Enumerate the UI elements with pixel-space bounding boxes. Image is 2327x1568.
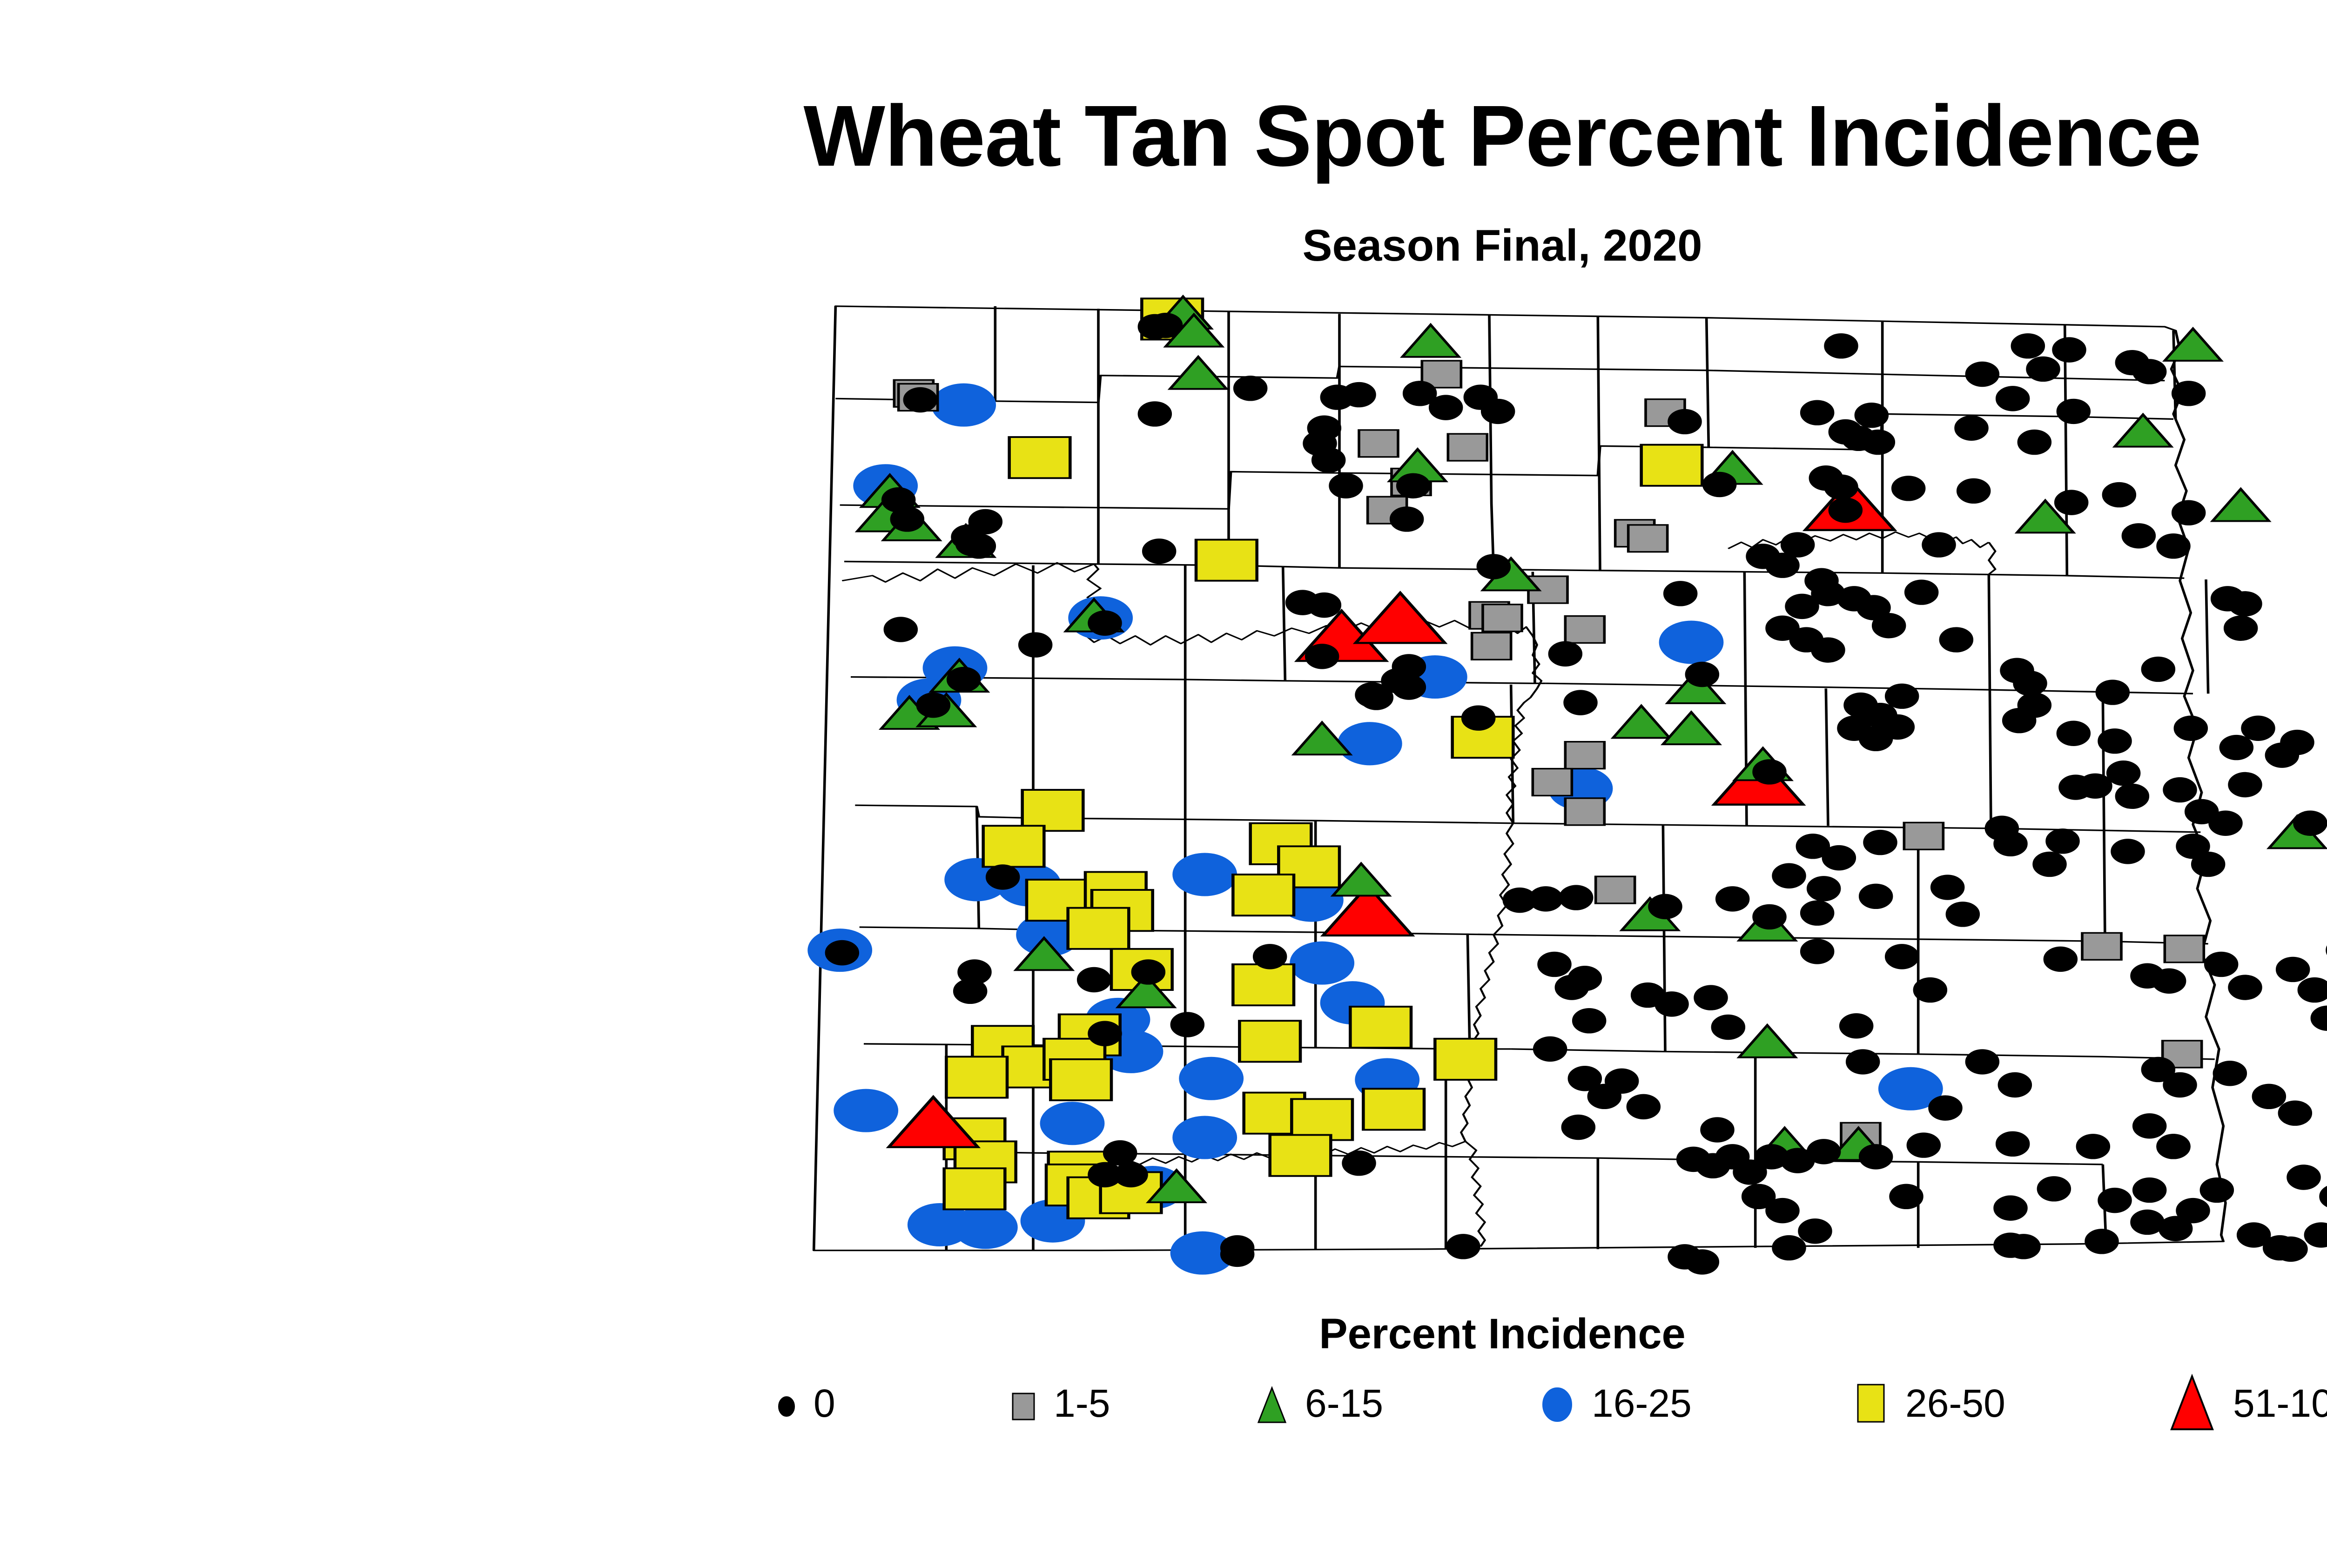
incidence-marker bbox=[1966, 362, 1998, 386]
incidence-marker bbox=[2122, 524, 2155, 548]
incidence-marker bbox=[1538, 952, 1571, 976]
legend-label-4: 26-50 bbox=[1905, 1384, 2005, 1423]
incidence-marker bbox=[2085, 1229, 2118, 1253]
incidence-marker bbox=[2305, 1223, 2327, 1247]
incidence-marker bbox=[1312, 448, 1345, 472]
incidence-marker bbox=[1402, 325, 1459, 357]
incidence-marker bbox=[1565, 616, 1604, 643]
legend-swatch-extreme-icon bbox=[2164, 1371, 2220, 1436]
incidence-marker bbox=[2287, 1165, 2320, 1189]
incidence-marker bbox=[1808, 876, 1840, 901]
incidence-marker bbox=[2157, 1134, 2190, 1158]
incidence-marker bbox=[2018, 430, 2051, 454]
incidence-marker bbox=[1860, 884, 1892, 908]
incidence-marker bbox=[1254, 944, 1286, 969]
incidence-marker bbox=[1627, 1095, 1660, 1119]
incidence-marker bbox=[2220, 735, 2253, 760]
incidence-marker bbox=[1483, 605, 1522, 632]
incidence-marker bbox=[2082, 933, 2121, 960]
incidence-marker bbox=[1009, 437, 1070, 478]
incidence-marker bbox=[1286, 590, 1319, 614]
incidence-marker bbox=[1905, 580, 1938, 604]
incidence-marker bbox=[1041, 1102, 1103, 1144]
north-dakota-incidence-map[interactable] bbox=[773, 279, 2327, 1280]
incidence-marker bbox=[1173, 1117, 1236, 1159]
incidence-marker bbox=[2213, 1061, 2246, 1085]
incidence-marker bbox=[1860, 1144, 1892, 1169]
incidence-marker bbox=[1923, 532, 1955, 557]
incidence-marker bbox=[1089, 611, 1121, 635]
incidence-marker bbox=[1907, 1133, 1940, 1157]
incidence-marker bbox=[2238, 1223, 2270, 1247]
incidence-marker bbox=[1562, 1115, 1594, 1139]
incidence-marker bbox=[1914, 978, 1946, 1002]
incidence-marker bbox=[2055, 490, 2088, 514]
incidence-marker bbox=[1019, 633, 1052, 657]
incidence-marker bbox=[2209, 811, 2242, 835]
incidence-marker bbox=[1606, 1069, 1638, 1093]
legend-label-0: 0 bbox=[814, 1384, 835, 1423]
incidence-marker bbox=[1931, 875, 1964, 899]
incidence-marker bbox=[1482, 399, 1514, 424]
incidence-marker bbox=[1170, 357, 1226, 389]
incidence-marker bbox=[1664, 581, 1697, 606]
incidence-marker bbox=[2279, 1101, 2311, 1125]
incidence-marker bbox=[1812, 638, 1844, 662]
legend-swatch-low-icon bbox=[1005, 1378, 1041, 1429]
incidence-marker bbox=[1808, 1139, 1840, 1164]
incidence-marker bbox=[2164, 1073, 2196, 1097]
incidence-marker bbox=[1078, 968, 1110, 992]
incidence-marker bbox=[1565, 798, 1604, 825]
page-title: Wheat Tan Spot Percent Incidence bbox=[0, 93, 2327, 180]
incidence-marker bbox=[1068, 908, 1129, 949]
incidence-marker bbox=[2192, 852, 2225, 876]
incidence-marker bbox=[1994, 832, 2027, 856]
incidence-marker bbox=[917, 693, 949, 717]
incidence-marker bbox=[954, 1206, 1017, 1249]
incidence-marker bbox=[1904, 822, 1943, 849]
incidence-marker bbox=[1291, 942, 1353, 984]
incidence-marker bbox=[1716, 887, 1749, 911]
incidence-marker bbox=[1363, 1089, 1424, 1130]
incidence-marker bbox=[2133, 359, 2166, 384]
incidence-marker bbox=[2277, 957, 2309, 982]
map-svg bbox=[773, 279, 2327, 1280]
incidence-marker bbox=[1477, 554, 1510, 579]
incidence-marker bbox=[1649, 895, 1681, 919]
incidence-marker bbox=[1966, 1050, 1998, 1074]
legend-swatch-zero-icon bbox=[773, 1378, 800, 1429]
incidence-marker bbox=[2172, 381, 2205, 405]
legend-label-1: 1-5 bbox=[1054, 1384, 1110, 1423]
incidence-marker bbox=[2205, 952, 2238, 976]
incidence-marker bbox=[1613, 706, 1669, 738]
incidence-marker bbox=[1529, 887, 1562, 911]
page-subtitle: Season Final, 2020 bbox=[0, 223, 2327, 268]
incidence-marker bbox=[1150, 313, 1182, 337]
incidence-marker bbox=[2242, 716, 2274, 740]
incidence-marker bbox=[1686, 662, 1718, 686]
incidence-marker bbox=[1823, 846, 1855, 870]
incidence-marker bbox=[1668, 410, 1701, 434]
incidence-marker bbox=[1946, 902, 1979, 926]
incidence-marker bbox=[2165, 935, 2204, 962]
incidence-marker bbox=[1829, 498, 1862, 522]
incidence-marker bbox=[1391, 507, 1423, 531]
incidence-marker bbox=[1143, 539, 1176, 563]
incidence-marker bbox=[1955, 416, 1988, 440]
incidence-marker bbox=[987, 865, 1019, 889]
incidence-marker bbox=[2133, 1178, 2166, 1202]
incidence-marker bbox=[2116, 784, 2148, 808]
map-figure-root: Wheat Tan Spot Percent Incidence Season … bbox=[0, 0, 2327, 1568]
incidence-marker bbox=[1782, 532, 1814, 557]
incidence-marker bbox=[1994, 1196, 2027, 1220]
incidence-marker bbox=[1435, 1039, 1496, 1080]
incidence-marker bbox=[2298, 978, 2327, 1002]
incidence-marker bbox=[1173, 853, 1236, 895]
incidence-marker bbox=[1343, 383, 1375, 407]
incidence-marker bbox=[1560, 885, 1593, 909]
incidence-marker bbox=[2044, 947, 2077, 971]
incidence-marker bbox=[1701, 1117, 1734, 1142]
incidence-marker bbox=[1138, 402, 1171, 426]
incidence-marker bbox=[2153, 969, 2186, 993]
incidence-marker bbox=[2320, 1184, 2327, 1209]
incidence-marker bbox=[1753, 905, 1786, 929]
incidence-marker bbox=[932, 384, 995, 426]
incidence-marker bbox=[1855, 403, 1888, 427]
incidence-marker bbox=[2172, 500, 2205, 525]
incidence-marker bbox=[1773, 864, 1805, 888]
incidence-marker bbox=[2003, 708, 2036, 733]
legend-item-5[interactable]: 51-100 bbox=[2164, 1364, 2327, 1443]
incidence-marker bbox=[1089, 1022, 1121, 1046]
legend-label-3: 16-25 bbox=[1592, 1384, 1692, 1423]
incidence-marker bbox=[2096, 680, 2129, 704]
incidence-marker bbox=[2133, 1114, 2166, 1138]
incidence-marker bbox=[1663, 712, 1719, 744]
incidence-marker bbox=[1338, 722, 1401, 765]
legend: 0 1-5 6-15 16-25 26-50 51-100 bbox=[773, 1364, 2327, 1443]
incidence-marker bbox=[1825, 475, 1857, 499]
incidence-marker bbox=[1997, 1132, 2029, 1156]
incidence-marker bbox=[2157, 534, 2190, 558]
incidence-marker bbox=[1343, 1151, 1375, 1175]
incidence-marker bbox=[1890, 1184, 1923, 1209]
incidence-marker-layer bbox=[808, 296, 2327, 1274]
incidence-marker bbox=[2229, 975, 2261, 999]
incidence-marker bbox=[1115, 1163, 1147, 1187]
legend-label-5: 51-100 bbox=[2233, 1384, 2327, 1423]
incidence-marker bbox=[1801, 901, 1834, 925]
incidence-marker bbox=[1565, 742, 1604, 769]
incidence-marker bbox=[1180, 1057, 1243, 1100]
incidence-marker bbox=[2014, 671, 2046, 695]
legend-item-0[interactable]: 0 bbox=[773, 1364, 835, 1443]
incidence-marker bbox=[1801, 400, 1834, 424]
incidence-marker bbox=[1239, 1021, 1300, 1062]
incidence-marker bbox=[946, 1057, 1007, 1097]
incidence-marker bbox=[1564, 690, 1597, 714]
incidence-marker bbox=[1825, 334, 1857, 358]
incidence-marker bbox=[2027, 357, 2059, 381]
incidence-marker bbox=[1022, 790, 1083, 831]
incidence-marker bbox=[1291, 1099, 1352, 1140]
incidence-marker bbox=[1050, 1059, 1111, 1100]
incidence-marker bbox=[1430, 395, 1462, 419]
incidence-marker bbox=[944, 1168, 1005, 1209]
incidence-marker bbox=[2164, 778, 2196, 802]
incidence-marker bbox=[1847, 1050, 1879, 1074]
incidence-marker bbox=[1864, 830, 1897, 855]
legend-title: Percent Incidence bbox=[0, 1312, 2327, 1355]
legend-item-1[interactable]: 1-5 bbox=[1005, 1364, 1110, 1443]
incidence-marker bbox=[2077, 1134, 2109, 1158]
incidence-marker bbox=[1940, 627, 1972, 652]
incidence-marker bbox=[954, 979, 987, 1003]
incidence-marker bbox=[1703, 472, 1736, 497]
incidence-marker bbox=[1773, 1236, 1805, 1260]
legend-swatch-moderate-icon bbox=[1252, 1378, 1292, 1429]
incidence-marker bbox=[1655, 992, 1688, 1016]
incidence-marker bbox=[1171, 1012, 1204, 1036]
incidence-marker bbox=[2229, 773, 2261, 797]
incidence-marker bbox=[2200, 1178, 2233, 1202]
incidence-marker bbox=[1997, 386, 2029, 411]
incidence-marker bbox=[1892, 476, 1925, 500]
incidence-marker bbox=[983, 826, 1044, 867]
incidence-marker bbox=[2011, 334, 2044, 358]
incidence-marker bbox=[1739, 1025, 1796, 1057]
legend-swatch-high-icon bbox=[1536, 1378, 1579, 1429]
incidence-marker bbox=[962, 534, 995, 558]
incidence-marker bbox=[2038, 1177, 2070, 1201]
incidence-marker bbox=[1873, 613, 1905, 638]
incidence-marker bbox=[834, 1090, 897, 1132]
incidence-marker bbox=[1533, 769, 1572, 796]
incidence-marker bbox=[1929, 1096, 1962, 1120]
incidence-marker bbox=[1350, 1007, 1411, 1048]
incidence-marker bbox=[1786, 594, 1818, 619]
incidence-marker bbox=[2033, 852, 2066, 876]
legend-label-2: 6-15 bbox=[1305, 1384, 1383, 1423]
incidence-marker bbox=[2057, 399, 2090, 424]
incidence-marker bbox=[1234, 376, 1267, 400]
incidence-marker bbox=[1695, 985, 1727, 1009]
incidence-marker bbox=[1333, 864, 1389, 896]
incidence-marker bbox=[2079, 774, 2112, 798]
incidence-marker bbox=[1448, 434, 1487, 461]
incidence-marker bbox=[1196, 540, 1257, 581]
incidence-marker bbox=[891, 507, 923, 531]
incidence-marker bbox=[1472, 633, 1511, 660]
incidence-marker bbox=[2103, 483, 2135, 507]
legend-item-4[interactable]: 26-50 bbox=[1848, 1364, 2005, 1443]
incidence-marker bbox=[1462, 706, 1495, 730]
incidence-marker bbox=[1233, 964, 1294, 1005]
incidence-marker bbox=[1447, 1234, 1480, 1258]
incidence-marker bbox=[1356, 593, 1445, 643]
incidence-marker bbox=[1356, 683, 1388, 707]
incidence-marker bbox=[1886, 944, 1918, 969]
incidence-marker bbox=[2053, 337, 2085, 362]
incidence-marker bbox=[826, 941, 858, 965]
incidence-marker bbox=[884, 617, 917, 641]
incidence-marker bbox=[2213, 489, 2269, 521]
incidence-marker bbox=[2225, 616, 2257, 640]
incidence-marker bbox=[1862, 430, 1894, 454]
incidence-marker bbox=[2229, 592, 2261, 616]
incidence-marker bbox=[1998, 1073, 2031, 1097]
incidence-marker bbox=[1221, 1242, 1254, 1266]
incidence-marker bbox=[1132, 960, 1164, 984]
incidence-marker bbox=[2311, 1006, 2327, 1030]
incidence-marker bbox=[1359, 430, 1398, 457]
incidence-marker bbox=[2294, 811, 2327, 835]
incidence-marker bbox=[2281, 730, 2314, 754]
incidence-marker bbox=[1330, 474, 1362, 498]
incidence-marker bbox=[2177, 1198, 2209, 1223]
legend-swatch-severe-icon bbox=[1848, 1375, 1892, 1431]
incidence-marker bbox=[1270, 1135, 1331, 1176]
incidence-marker bbox=[904, 388, 936, 412]
incidence-marker bbox=[1712, 1015, 1744, 1039]
incidence-marker bbox=[1306, 644, 1338, 668]
incidence-marker bbox=[2112, 839, 2144, 863]
incidence-marker bbox=[1573, 1009, 1606, 1033]
incidence-marker bbox=[1233, 875, 1294, 915]
incidence-marker bbox=[948, 667, 980, 692]
incidence-marker bbox=[1397, 474, 1430, 498]
incidence-marker bbox=[1568, 966, 1601, 990]
incidence-marker bbox=[2046, 829, 2079, 853]
incidence-marker bbox=[1886, 684, 1918, 708]
incidence-marker bbox=[2174, 716, 2207, 740]
incidence-marker bbox=[2253, 1084, 2285, 1109]
incidence-marker bbox=[1660, 621, 1722, 664]
incidence-marker bbox=[1104, 1141, 1137, 1165]
legend-item-3[interactable]: 16-25 bbox=[1536, 1364, 1692, 1443]
incidence-marker bbox=[1881, 715, 1914, 739]
incidence-marker bbox=[1766, 1198, 1799, 1223]
incidence-marker bbox=[1392, 654, 1425, 679]
incidence-marker bbox=[1686, 1250, 1718, 1274]
incidence-marker bbox=[2007, 1234, 2040, 1258]
incidence-marker bbox=[2098, 729, 2131, 753]
incidence-marker bbox=[2098, 1188, 2131, 1212]
incidence-marker bbox=[2142, 657, 2174, 681]
incidence-marker bbox=[1641, 445, 1702, 486]
incidence-marker bbox=[1549, 642, 1581, 666]
incidence-marker bbox=[2274, 1237, 2307, 1261]
incidence-marker bbox=[1596, 876, 1635, 903]
incidence-marker bbox=[1753, 760, 1786, 784]
incidence-marker bbox=[1799, 1219, 1831, 1243]
incidence-marker bbox=[1957, 479, 1990, 503]
incidence-marker bbox=[2057, 721, 2090, 746]
incidence-marker bbox=[1840, 1014, 1873, 1038]
incidence-marker bbox=[1801, 939, 1834, 963]
incidence-marker bbox=[2107, 761, 2140, 785]
incidence-marker bbox=[1534, 1037, 1567, 1061]
incidence-marker bbox=[1628, 525, 1668, 552]
legend-item-2[interactable]: 6-15 bbox=[1252, 1364, 1383, 1443]
